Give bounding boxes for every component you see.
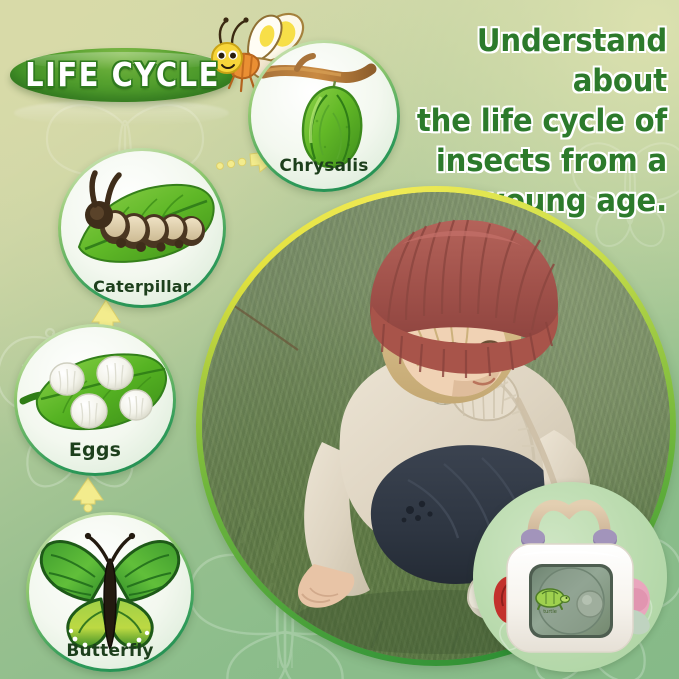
infographic-canvas: LIFE CYCLE U xyxy=(0,0,679,679)
badge-reflection xyxy=(14,100,229,126)
stage-inner-butterfly: Butterfly xyxy=(29,515,191,669)
stage-circle-eggs: Eggs xyxy=(14,324,176,476)
stage-label-chrysalis: Chrysalis xyxy=(251,156,397,176)
stage-inner-chrysalis: Chrysalis xyxy=(251,43,397,189)
stage-label-caterpillar: Caterpillar xyxy=(61,277,223,296)
svg-text:turtle: turtle xyxy=(543,609,557,615)
stage-circle-chrysalis: Chrysalis xyxy=(248,40,400,192)
headline-line-3: insects from a xyxy=(385,142,667,182)
product-inset-circle: turtle xyxy=(473,482,667,672)
stage-circle-caterpillar: Caterpillar xyxy=(58,148,226,308)
life-cycle-badge: LIFE CYCLE xyxy=(10,48,235,102)
toy-camera-illustration: turtle xyxy=(473,482,667,672)
stage-label-butterfly: Butterfly xyxy=(29,641,191,661)
headline-line-2: the life cycle of xyxy=(385,102,667,142)
stage-circle-butterfly: Butterfly xyxy=(26,512,194,672)
stage-label-eggs: Eggs xyxy=(17,439,173,461)
headline-line-1: Understand about xyxy=(385,22,667,102)
stage-inner-caterpillar: Caterpillar xyxy=(61,151,223,305)
stage-inner-eggs: Eggs xyxy=(17,327,173,473)
life-cycle-badge-label: LIFE CYCLE xyxy=(25,56,220,94)
